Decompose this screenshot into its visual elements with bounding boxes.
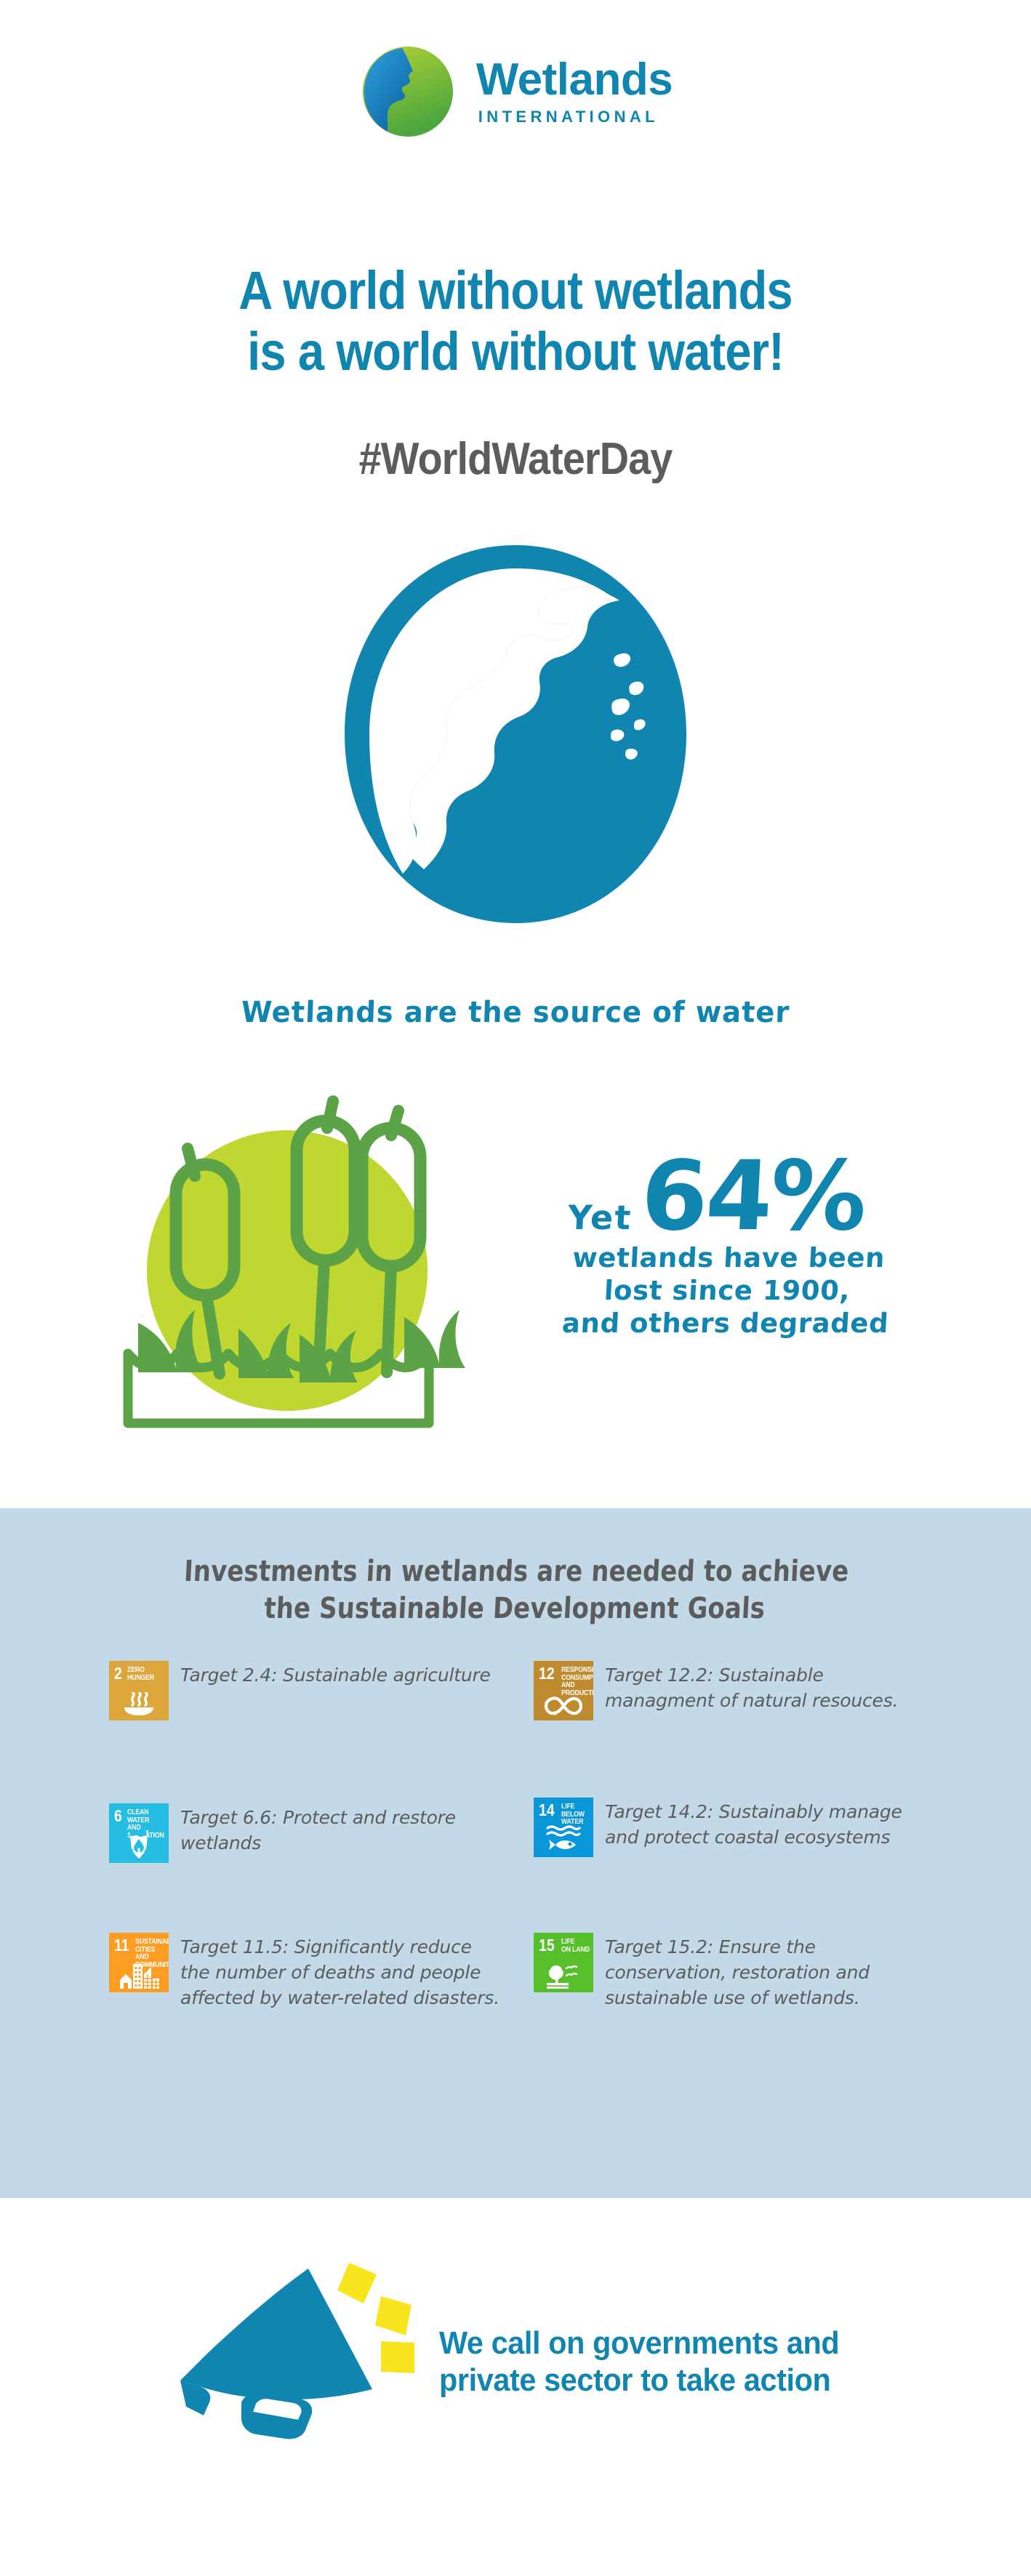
sdg-goal-14[interactable]: 14 LIFE BELOW WATER xyxy=(534,1798,929,1933)
sdg-badge-number: 15 xyxy=(539,1939,555,1953)
stat-line-2: lost since 1900, xyxy=(508,1274,946,1307)
sdg-badge-2: 2 ZERO HUNGER xyxy=(109,1661,169,1720)
page-title: A world without wetlands is a world with… xyxy=(62,260,969,383)
sdg-goal-15[interactable]: 15 LIFE ON LAND xyxy=(534,1933,929,2011)
sdg-goal-text: Target 12.2: Sustainable managment of na… xyxy=(605,1661,929,1713)
sdg-column-right: 12 RESPONSIBLE CONSUMPTION AND PRODUCTIO… xyxy=(534,1661,929,2011)
headline-line-2: is a world without water! xyxy=(62,321,969,382)
sdg-badge-number: 11 xyxy=(114,1939,129,1953)
sdg-badge-12: 12 RESPONSIBLE CONSUMPTION AND PRODUCTIO… xyxy=(534,1661,593,1720)
sdg-badge-name: RESPONSIBLE CONSUMPTION AND PRODUCTION xyxy=(561,1667,593,1697)
sdg-badge-14: 14 LIFE BELOW WATER xyxy=(534,1798,593,1857)
logo-wordmark: Wetlands xyxy=(476,57,673,102)
brand-logo: Wetlands INTERNATIONAL xyxy=(0,42,1031,141)
hashtag: #WorldWaterDay xyxy=(52,433,979,485)
sdg-goal-text: Target 11.5: Significantly reduce the nu… xyxy=(180,1933,505,2011)
sdg-badge-15: 15 LIFE ON LAND xyxy=(534,1933,593,1992)
cattail-illustration xyxy=(109,1083,465,1446)
cta-text: We call on governments and private secto… xyxy=(439,2325,839,2399)
sdg-goal-text: Target 6.6: Protect and restore wetlands xyxy=(180,1803,505,1856)
globe-icon xyxy=(330,538,701,930)
sdg-goal-columns: 2 ZERO HUNGER xyxy=(0,1661,1031,2011)
logo-subtitle: INTERNATIONAL xyxy=(478,108,673,126)
sdg-badge-name: LIFE BELOW WATER xyxy=(561,1803,590,1827)
sdg-badge-11: 11 SUSTAINABLE CITIES AND COMMUNITIES xyxy=(109,1933,169,1992)
tree-birds-icon xyxy=(534,1961,593,1989)
water-glass-icon xyxy=(109,1827,169,1859)
sdg-goal-2[interactable]: 2 ZERO HUNGER xyxy=(109,1661,505,1803)
sdg-badge-number: 2 xyxy=(114,1667,122,1681)
stat-number: 64% xyxy=(639,1156,867,1237)
sdg-badge-6: 6 CLEAN WATER AND SANITATION xyxy=(109,1803,169,1863)
sdg-column-left: 2 ZERO HUNGER xyxy=(109,1661,505,2011)
city-buildings-icon xyxy=(109,1963,169,1989)
globe-illustration xyxy=(0,538,1031,930)
sdg-badge-name: ZERO HUNGER xyxy=(127,1667,154,1682)
stat-line-1: wetlands have been xyxy=(510,1241,947,1274)
sdg-section: Investments in wetlands are needed to ac… xyxy=(0,1508,1031,2198)
sdg-section-title: Investments in wetlands are needed to ac… xyxy=(29,1553,1002,1627)
fish-waves-icon xyxy=(534,1824,593,1853)
sdg-goal-11[interactable]: 11 SUSTAINABLE CITIES AND COMMUNITIES xyxy=(109,1933,505,2011)
infographic-page: Wetlands INTERNATIONAL A world without w… xyxy=(0,0,1031,2576)
sdg-goal-text: Target 14.2: Sustainably manage and prot… xyxy=(605,1798,929,1850)
globe-caption: Wetlands are the source of water xyxy=(20,996,1011,1029)
cta-line-1: We call on governments and xyxy=(439,2325,839,2362)
sdg-goal-text: Target 2.4: Sustainable agriculture xyxy=(180,1661,491,1688)
sdg-title-line-2: the Sustainable Development Goals xyxy=(29,1590,1000,1627)
sdg-badge-number: 14 xyxy=(539,1803,555,1818)
stat-prefix: Yet xyxy=(567,1198,633,1237)
cattail-reeds-icon xyxy=(109,1083,465,1446)
sdg-goal-12[interactable]: 12 RESPONSIBLE CONSUMPTION AND PRODUCTIO… xyxy=(534,1661,929,1798)
statistic-block: Yet 64% wetlands have been lost since 19… xyxy=(509,1156,945,1340)
wetlands-head-logo-icon xyxy=(358,42,457,141)
sdg-goal-text: Target 15.2: Ensure the conservation, re… xyxy=(605,1933,929,2011)
cta-line-2: private sector to take action xyxy=(439,2362,839,2399)
sdg-badge-name: LIFE ON LAND xyxy=(561,1939,590,1954)
call-to-action-section: We call on governments and private secto… xyxy=(0,2198,1031,2576)
sdg-badge-number: 12 xyxy=(539,1667,555,1681)
headline-line-1: A world without wetlands xyxy=(62,260,969,321)
sdg-goal-6[interactable]: 6 CLEAN WATER AND SANITATION xyxy=(109,1803,505,1933)
bowl-icon xyxy=(109,1692,169,1717)
infinity-loop-icon xyxy=(534,1695,593,1717)
sdg-title-line-1: Investments in wetlands are needed to ac… xyxy=(31,1553,1002,1590)
sdg-badge-number: 6 xyxy=(114,1809,122,1824)
stat-line-3: and others degraded xyxy=(506,1307,944,1340)
megaphone-icon xyxy=(166,2253,420,2471)
